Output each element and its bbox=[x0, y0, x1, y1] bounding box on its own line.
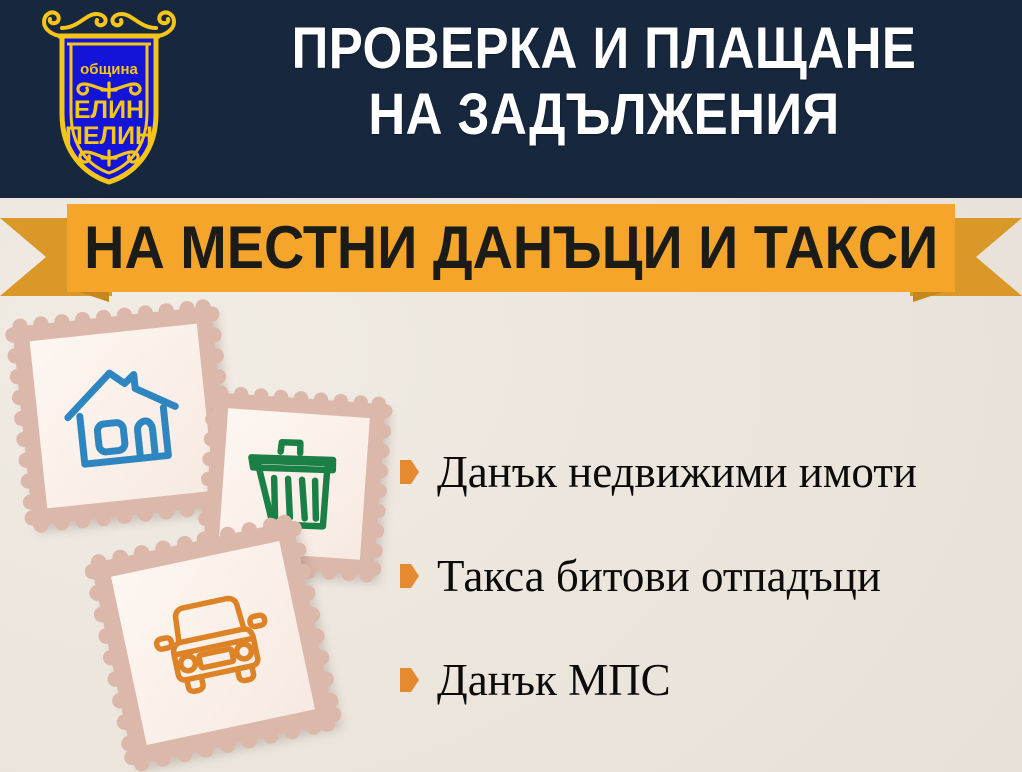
logo-name-line2: ПЕЛИН bbox=[65, 122, 153, 150]
page-title-line-2: НА ЗАДЪЛЖЕНИЯ bbox=[245, 82, 963, 148]
subtitle-ribbon: НА МЕСТНИ ДАНЪЦИ И ТАКСИ bbox=[0, 196, 1022, 308]
bullet-arrow-icon bbox=[400, 564, 419, 588]
ribbon-band: НА МЕСТНИ ДАНЪЦИ И ТАКСИ bbox=[67, 204, 955, 292]
municipality-logo: община ЕЛИН ПЕЛИН bbox=[34, 6, 184, 188]
list-item-label: Такса битови отпадъци bbox=[437, 551, 881, 601]
bullet-arrow-icon bbox=[400, 460, 419, 484]
header-bar: община ЕЛИН ПЕЛИН ПРОВЕРКА И ПЛАЩАНЕ НА … bbox=[0, 0, 1022, 198]
stamp-card-house bbox=[12, 306, 232, 526]
list-item[interactable]: Данък МПС bbox=[400, 628, 1012, 732]
logo-name-line1: ЕЛИН bbox=[74, 96, 144, 124]
list-item-label: Данък МПС bbox=[437, 655, 671, 705]
trash-bin-icon bbox=[242, 429, 345, 539]
page-title: ПРОВЕРКА И ПЛАЩАНЕ НА ЗАДЪЛЖЕНИЯ bbox=[245, 16, 963, 148]
page-title-line-1: ПРОВЕРКА И ПЛАЩАНЕ bbox=[245, 16, 963, 82]
bullet-arrow-icon bbox=[400, 668, 419, 692]
stamp-card-car bbox=[91, 521, 335, 765]
list-item[interactable]: Данък недвижими имоти bbox=[400, 420, 1012, 524]
car-front-icon bbox=[145, 584, 280, 702]
stamp-inner-house bbox=[30, 324, 215, 509]
ribbon-label: НА МЕСТНИ ДАНЪЦИ И ТАКСИ bbox=[84, 218, 938, 278]
tax-type-list: Данък недвижими имоти Такса битови отпад… bbox=[400, 420, 1012, 732]
logo-top-label: община bbox=[80, 61, 138, 78]
list-item-label: Данък недвижими имоти bbox=[437, 447, 917, 497]
house-icon bbox=[56, 354, 187, 478]
list-item[interactable]: Такса битови отпадъци bbox=[400, 524, 1012, 628]
poster-canvas: община ЕЛИН ПЕЛИН ПРОВЕРКА И ПЛАЩАНЕ НА … bbox=[0, 0, 1022, 772]
stamp-inner-car bbox=[111, 541, 315, 745]
